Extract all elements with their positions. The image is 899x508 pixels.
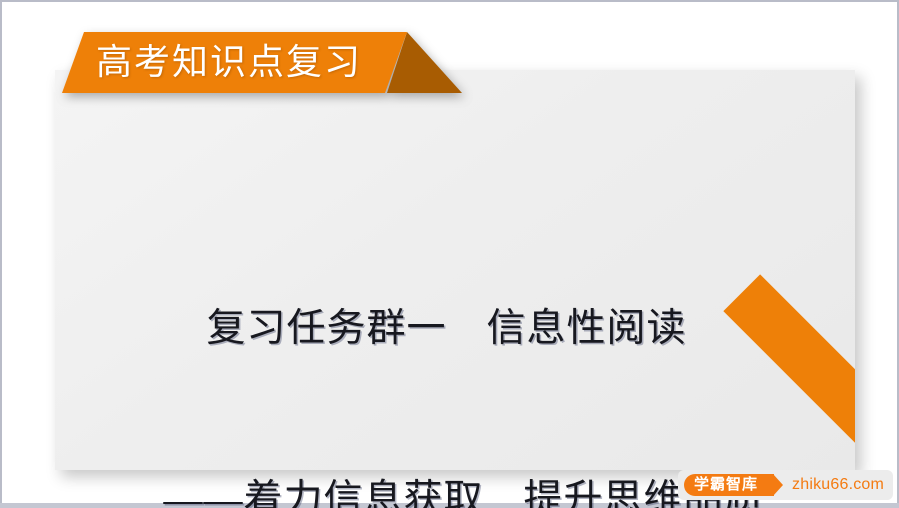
slide-canvas: 高考知识点复习 复习任务群一 信息性阅读 ——着力信息获取 提升思维品质 学霸智… [0,0,899,508]
canvas-border-top [0,0,899,2]
section-ribbon-label: 高考知识点复习 [96,32,362,93]
watermark-brand-label: 学霸智库 [684,474,774,496]
slide-title: 复习任务群一 信息性阅读 ——着力信息获取 提升思维品质 [0,186,899,508]
slide-title-line-1: 复习任务群一 信息性阅读 [0,300,899,357]
watermark: 学霸智库 zhiku66.com [678,470,884,500]
watermark-domain-label: zhiku66.com [792,470,884,500]
